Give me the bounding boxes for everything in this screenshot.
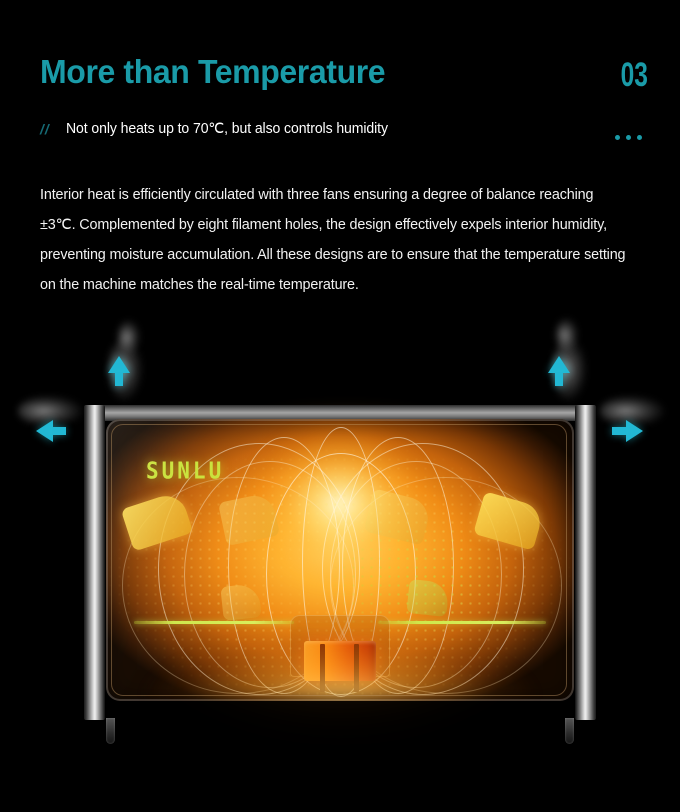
section-number: 03 (621, 58, 648, 92)
page-header: More than Temperature // Not only heats … (0, 0, 680, 165)
page-subtitle: Not only heats up to 70℃, but also contr… (66, 121, 388, 137)
drying-chamber: SUNLU (106, 419, 574, 701)
dot-1 (615, 135, 620, 140)
product-illustration: SUNLU (0, 300, 680, 812)
dot-3 (637, 135, 642, 140)
airflow-arrow-right-side (612, 420, 643, 442)
steam-plume-top-right-2 (556, 318, 578, 352)
body-paragraph: Interior heat is efficiently circulated … (40, 180, 631, 300)
airflow-arrow-top-right (548, 356, 570, 387)
ellipsis-dots-icon (615, 135, 642, 140)
foot-right (565, 718, 574, 744)
filament-dryer-body: SUNLU (84, 405, 596, 720)
sunlu-brand-logo: SUNLU (146, 457, 224, 484)
floor-heat-glow (134, 589, 546, 699)
left-pillar (84, 405, 105, 720)
airflow-arrow-top-left (108, 356, 130, 387)
page-title: More than Temperature (40, 55, 385, 88)
airflow-arrow-left-side (36, 420, 67, 442)
slash-marker-icon: // (40, 121, 50, 137)
foot-left (106, 718, 115, 744)
dot-2 (626, 135, 631, 140)
subtitle-row: // Not only heats up to 70℃, but also co… (40, 119, 398, 139)
right-pillar (575, 405, 596, 720)
steam-plume-top-left-2 (118, 320, 140, 354)
